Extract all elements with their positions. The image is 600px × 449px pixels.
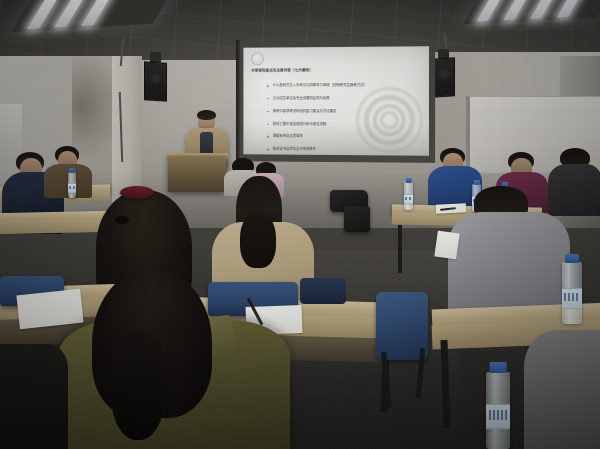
classroom-photo: 本期课程重点及主要内容（七大模块） 什么是研究生入学考试与同等学力申硕（在职研究…	[0, 0, 600, 449]
attendee-dark-foreground-left	[0, 344, 68, 449]
desk-leg	[398, 225, 402, 273]
slide-bullet: 结业证书及学位证书申请条件	[267, 147, 407, 152]
water-bottle	[68, 172, 76, 198]
hair-tie	[115, 216, 129, 224]
slide-bullet-list: 什么是研究生入学考试与同等学力申硕（在职研究生报考方式） 五大招生单位及专业设置…	[267, 83, 407, 156]
attendee-gray-sweater-lower	[524, 330, 600, 449]
handout-paper	[434, 231, 459, 260]
water-bottle	[562, 262, 582, 324]
hair-bow-accessory	[120, 186, 154, 199]
water-bottle	[486, 372, 510, 449]
water-bottle	[404, 182, 413, 210]
slide-bullet: 什么是研究生入学考试与同等学力申硕（在职研究生报考方式）	[267, 83, 407, 88]
slide-logo-icon	[251, 52, 264, 65]
attendee-olive-coat-ponytail	[110, 330, 166, 440]
attendee-beige-jacket-ponytail	[240, 212, 276, 268]
projection-screen: 本期课程重点及主要内容（七大模块） 什么是研究生入学考试与同等学力申硕（在职研究…	[243, 46, 429, 155]
slide-title: 本期课程重点及主要内容（七大模块）	[251, 68, 400, 73]
attendee-dark-rear-right	[548, 164, 600, 216]
slide-bullet: 五大招生单位及专业设置的区别与优势	[267, 96, 407, 100]
lectern-podium	[168, 156, 226, 192]
classroom-chair	[300, 278, 346, 304]
slide-bullet: 如何工整中选及成绩分析与报名流程	[267, 121, 407, 126]
shoulder-bag	[344, 206, 370, 232]
slide-bullet: 课程安排及注意事项	[267, 134, 407, 139]
slide-bullet: 报考中各项考试科目的复习重点与方法建议	[267, 109, 407, 113]
handout-paper	[16, 289, 83, 330]
presenter-hair	[197, 110, 216, 120]
